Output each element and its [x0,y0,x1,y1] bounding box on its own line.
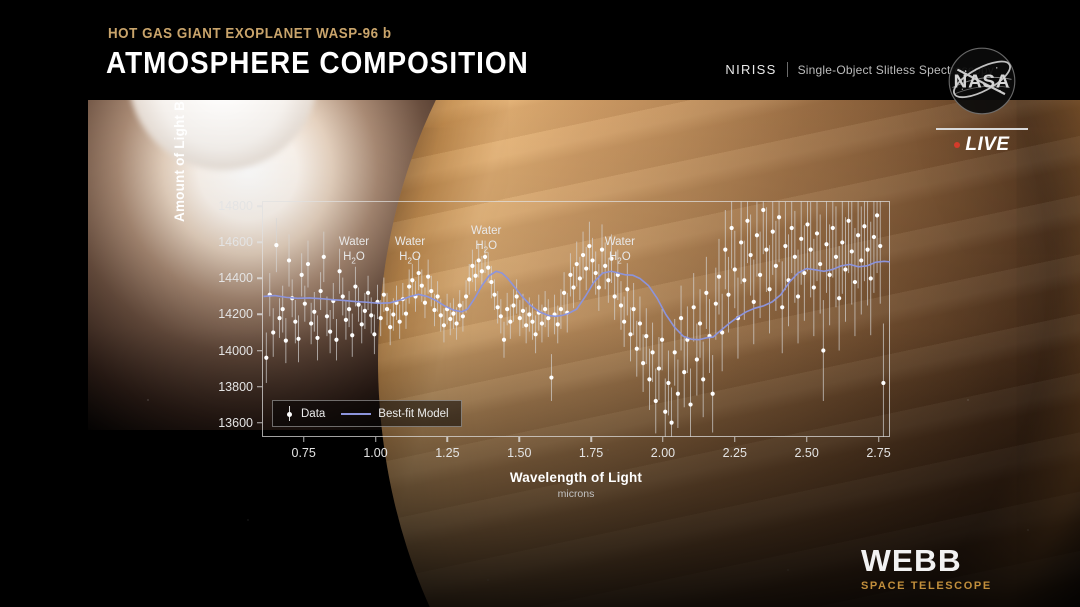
data-marker-icon [285,406,294,421]
webb-subtitle: SPACE TELESCOPE [861,580,992,592]
live-rule [936,128,1028,130]
x-tick-label: 0.75 [292,446,316,460]
annotation-name: Water [339,235,369,249]
instrument-name: NIRISS [725,62,776,77]
x-tick-label: 2.00 [651,446,675,460]
y-tick-label: 14400 [218,271,253,285]
x-axis-label: Wavelength of Light [262,470,890,485]
divider [787,62,788,77]
y-tick-label: 13800 [218,380,253,394]
y-tick-label: 13600 [218,416,253,430]
annotation-formula: H2O [395,250,425,266]
x-tick-label: 2.50 [794,446,818,460]
x-tick-label: 1.50 [507,446,531,460]
model-line-icon [341,413,371,415]
y-tick-label: 14600 [218,235,253,249]
annotation-name: Water [605,235,635,249]
annotation-formula: H2O [605,250,635,266]
legend-item-data: Data [285,406,325,421]
y-tick-mark [257,314,262,316]
x-tick-mark [303,437,305,442]
svg-text:NASA: NASA [954,71,1011,92]
x-tick-mark [590,437,592,442]
y-tick-mark [257,242,262,244]
water-annotation: WaterH2O [395,235,425,266]
x-tick-mark [662,437,664,442]
x-tick-label: 2.75 [866,446,890,460]
x-tick-label: 1.25 [435,446,459,460]
legend-label-model: Best-fit Model [378,408,448,420]
live-badge: LIVE [936,128,1028,156]
nasa-logo-icon: NASA [941,40,1023,122]
y-tick-mark [257,422,262,424]
x-tick-mark [734,437,736,442]
annotation-formula: H2O [339,250,369,266]
subject-label: HOT GAS GIANT EXOPLANET WASP-96 b [108,26,392,42]
annotation-name: Water [471,224,501,238]
live-label: LIVE [965,134,1009,156]
y-tick-mark [257,278,262,280]
y-tick-mark [257,350,262,352]
live-dot-icon [954,142,960,148]
y-tick-mark [257,386,262,388]
x-tick-label: 1.00 [363,446,387,460]
y-tick-label: 14800 [218,199,253,213]
x-axis-title: Wavelength of Light microns [262,470,890,500]
webb-wordmark: WEBB [861,543,994,579]
annotation-formula: H2O [471,239,501,255]
plot-legend: Data Best-fit Model [272,400,462,427]
water-annotation: WaterH2O [339,235,369,266]
legend-item-model: Best-fit Model [341,408,448,420]
broadcast-screen: HOT GAS GIANT EXOPLANET WASP-96 b ATMOSP… [0,0,1080,607]
legend-label-data: Data [301,408,325,420]
title-bar: HOT GAS GIANT EXOPLANET WASP-96 b ATMOSP… [0,0,1080,100]
x-tick-label: 2.25 [723,446,747,460]
webb-logo: WEBB SPACE TELESCOPE [861,543,992,592]
water-annotation: WaterH2O [471,224,501,255]
water-annotation: WaterH2O [605,235,635,266]
spectrum-plot: 136001380014000142001440014600148000.751… [262,201,890,437]
x-tick-mark [878,437,880,442]
y-tick-label: 14200 [218,307,253,321]
x-axis-units: microns [262,488,890,500]
x-tick-mark [806,437,808,442]
y-tick-label: 14000 [218,344,253,358]
x-tick-mark [518,437,520,442]
page-title: ATMOSPHERE COMPOSITION [106,45,529,81]
y-tick-mark [257,206,262,208]
x-tick-mark [447,437,449,442]
x-tick-label: 1.75 [579,446,603,460]
annotation-name: Water [395,235,425,249]
x-tick-mark [375,437,377,442]
